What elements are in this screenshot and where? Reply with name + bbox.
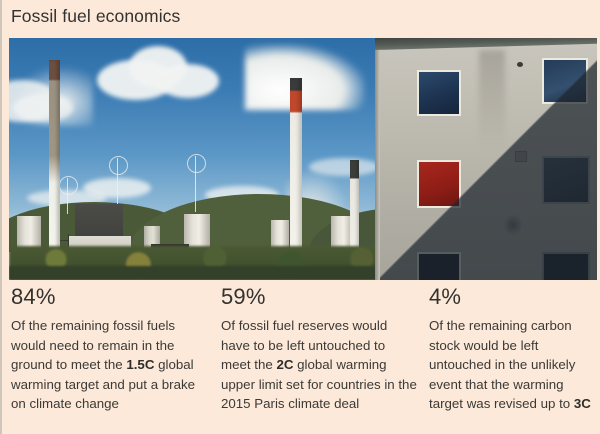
- stat-column-2: 59% Of fossil fuel reserves would have t…: [221, 282, 417, 414]
- smoke-plume: [245, 44, 365, 110]
- hero-photo: [9, 38, 597, 280]
- chimney-stack: [49, 60, 60, 272]
- stat-column-3: 4% Of the remaining carbon stock would b…: [429, 282, 600, 414]
- wind-turbine-icon: [195, 156, 196, 212]
- stat-percent: 84%: [11, 282, 207, 312]
- stat-percent: 59%: [221, 282, 417, 312]
- stat-description: Of fossil fuel reserves would have to be…: [221, 316, 417, 414]
- stat-emphasis: 1.5C: [126, 357, 154, 372]
- wind-turbine-icon: [67, 178, 68, 214]
- stat-description: Of the remaining fossil fuels would need…: [11, 316, 207, 414]
- building-shadow: [375, 38, 597, 280]
- building-edge: [375, 48, 380, 280]
- stat-description: Of the remaining carbon stock would be l…: [429, 316, 600, 414]
- stat-percent: 4%: [429, 282, 600, 312]
- stat-text-before: Of the remaining carbon stock would be l…: [429, 318, 575, 411]
- apartment-building: [375, 38, 597, 280]
- chimney-stack: [290, 78, 302, 274]
- stat-emphasis: 3C: [574, 396, 591, 411]
- cloud-icon: [157, 64, 219, 98]
- stat-columns: 84% Of the remaining fossil fuels would …: [2, 282, 600, 434]
- infographic-page: Fossil fuel economics: [0, 0, 600, 434]
- stat-column-1: 84% Of the remaining fossil fuels would …: [11, 282, 207, 414]
- page-title: Fossil fuel economics: [11, 3, 180, 29]
- stat-emphasis: 2C: [276, 357, 293, 372]
